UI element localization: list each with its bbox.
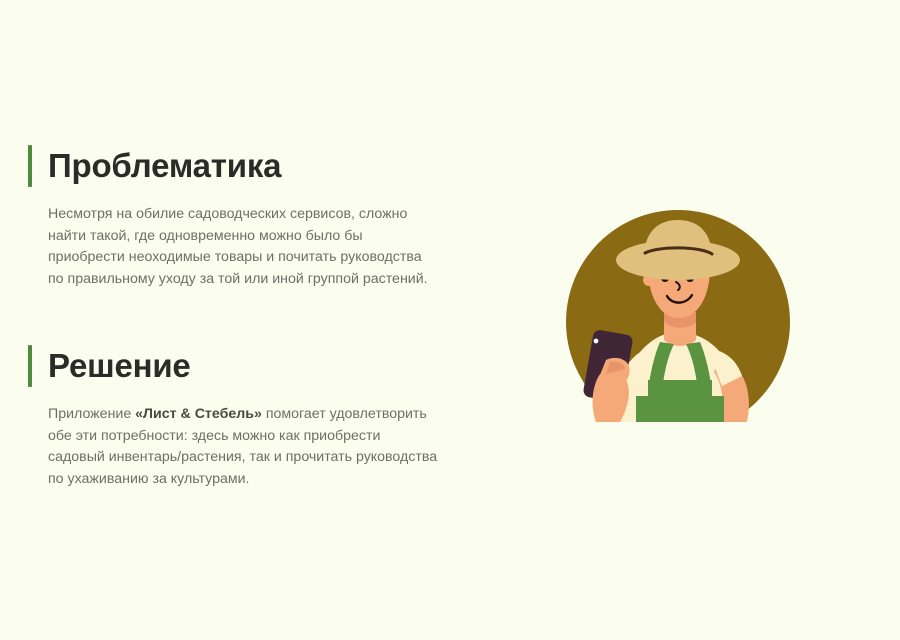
accent-bar-icon	[28, 345, 32, 387]
page-title-solution: Решение	[48, 345, 191, 387]
text-column: Проблематика Несмотря на обилие садоводч…	[28, 142, 468, 490]
app-name-emphasis: «Лист & Стебель»	[135, 406, 262, 422]
section-problem: Проблематика Несмотря на обилие садоводч…	[28, 142, 468, 290]
gardener-with-phone-illustration	[566, 210, 790, 434]
apron-body	[636, 396, 724, 434]
heading-row-solution: Решение	[28, 342, 468, 390]
body-text-solution: Приложение «Лист & Стебель» помогает удо…	[48, 404, 440, 490]
section-solution: Решение Приложение «Лист & Стебель» помо…	[28, 342, 468, 490]
page-title-problem: Проблематика	[48, 145, 281, 187]
heading-row-problem: Проблематика	[28, 142, 468, 190]
phone-camera-dot	[594, 339, 599, 344]
hand-palm	[593, 372, 629, 422]
body-text-problem: Несмотря на обилие садоводческих сервисо…	[48, 204, 440, 290]
slide-root: Проблематика Несмотря на обилие садоводч…	[0, 0, 900, 640]
accent-bar-icon	[28, 145, 32, 187]
gardener-illustration-svg	[566, 210, 790, 434]
body-text-solution-before: Приложение	[48, 406, 135, 422]
